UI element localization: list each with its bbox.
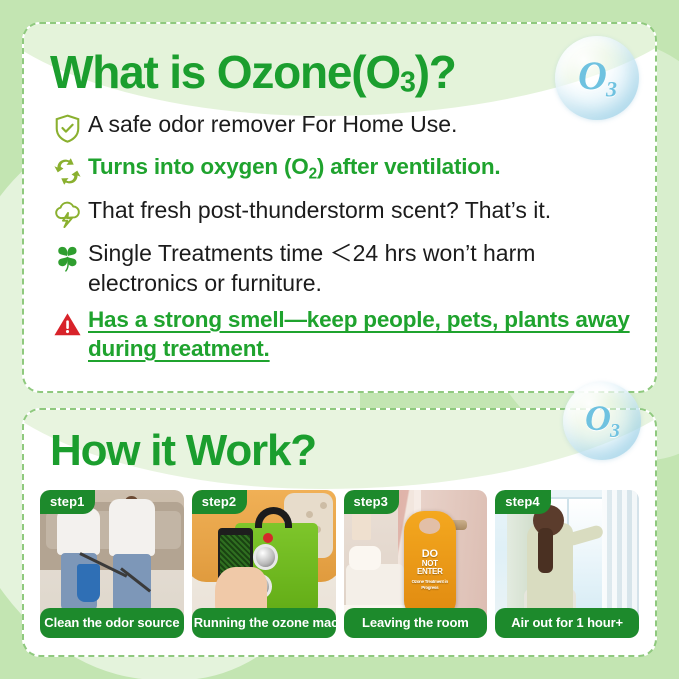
step-card[interactable]: step4 Air out for 1 hour+: [495, 490, 639, 638]
ozone-bubble-label: O3: [585, 400, 619, 442]
step-card[interactable]: step1 Clean the odor source: [40, 490, 184, 638]
list-item: A safe odor remover For Home Use.: [50, 110, 650, 145]
step-card[interactable]: DO NOT ENTER Ozone Treatment in Progress…: [344, 490, 488, 638]
list-item-label: Single Treatments time ＜24 hrs won’t har…: [84, 239, 650, 298]
list-item: Single Treatments time ＜24 hrs won’t har…: [50, 239, 650, 298]
step-caption: Leaving the room: [344, 608, 488, 638]
recycle-arrows-icon: [50, 154, 84, 188]
step-caption: Running the ozone machine: [192, 608, 336, 638]
step-badge: step3: [344, 490, 399, 514]
ozone-bubble-label: O3: [578, 56, 616, 101]
four-leaf-clover-icon: [50, 240, 84, 274]
step-card[interactable]: step2 Running the ozone machine: [192, 490, 336, 638]
poster-root: What is Ozone(O3)? A safe odor remover F…: [0, 0, 679, 679]
list-item-label: Turns into oxygen (O2) after ventilation…: [84, 153, 500, 184]
how-it-works-card: How it Work?: [22, 408, 657, 657]
door-hanger-line4: Ozone Treatment in Progress: [404, 579, 456, 592]
list-item-label: A safe odor remover For Home Use.: [84, 110, 457, 139]
list-item: Turns into oxygen (O2) after ventilation…: [50, 153, 650, 188]
list-item-label-after: ) after ventilation.: [317, 154, 501, 179]
list-item: That fresh post-thunderstorm scent? That…: [50, 196, 650, 231]
ozone-bubble-graphic: O3: [563, 382, 641, 460]
shield-check-icon: [50, 111, 84, 145]
step-badge: step1: [40, 490, 95, 514]
page-title-subscript: 3: [400, 66, 415, 98]
list-item: Has a strong smell—keep people, pets, pl…: [50, 306, 650, 364]
ozone-bubble-letter: O: [585, 398, 610, 438]
page-title-main: What is Ozone(O: [50, 46, 400, 98]
how-card-inner: How it Work?: [24, 410, 655, 655]
door-hanger-line3: ENTER: [404, 568, 456, 576]
ozone-bubble-subscript: 3: [610, 420, 619, 442]
step-caption: Air out for 1 hour+: [495, 608, 639, 638]
ozone-bubble-letter: O: [578, 53, 606, 98]
door-hanger-text: DO NOT ENTER Ozone Treatment in Progress: [404, 549, 456, 592]
storm-cloud-icon: [50, 197, 84, 231]
list-item-label-subscript: 2: [309, 166, 317, 183]
list-item-label: That fresh post-thunderstorm scent? That…: [84, 196, 551, 225]
section-title: How it Work?: [50, 428, 655, 474]
step-badge: step4: [495, 490, 550, 514]
what-is-ozone-card: What is Ozone(O3)? A safe odor remover F…: [22, 22, 657, 393]
step-caption: Clean the odor source: [40, 608, 184, 638]
page-title-tail: )?: [415, 46, 456, 98]
list-item-label-before: Turns into oxygen (O: [88, 154, 309, 179]
step-badge: step2: [192, 490, 247, 514]
list-item-label: Has a strong smell—keep people, pets, pl…: [84, 306, 650, 364]
feature-list: A safe odor remover For Home Use. Turns …: [50, 110, 650, 363]
steps-row: step1 Clean the odor source: [40, 490, 639, 638]
warning-triangle-icon: [50, 307, 84, 341]
ozone-bubble-graphic: O3: [555, 36, 639, 120]
ozone-bubble-subscript: 3: [606, 76, 616, 101]
